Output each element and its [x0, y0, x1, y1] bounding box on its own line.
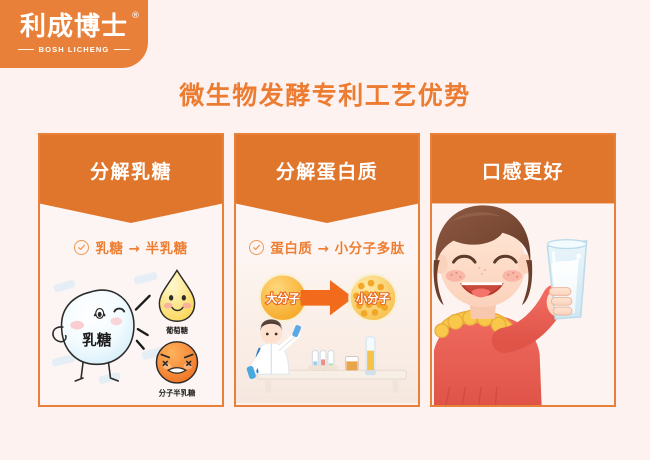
card-subtitle-protein: 蛋白质 → 小分子多肽	[236, 237, 418, 257]
feature-card-taste: 口感更好	[430, 133, 616, 407]
art-label-small-molecule: 小分子	[356, 292, 390, 306]
brand-name-cn-text: 利成博士	[20, 12, 128, 42]
card-subtitle-lactose: 乳糖 → 半乳糖	[40, 237, 222, 257]
registered-trademark-icon: ®	[131, 12, 141, 21]
feature-card-list: 分解乳糖 乳糖 → 半乳糖	[38, 133, 616, 407]
check-circle-icon	[249, 240, 264, 255]
rule-left-divider	[18, 49, 34, 50]
card-header-protein: 分解蛋白质	[236, 135, 418, 223]
illustration-lactose-characters: 乳糖 葡萄糖	[40, 263, 222, 405]
page-title: 微生物发酵专利工艺优势	[0, 76, 650, 112]
brand-name-en: BOSH LICHENG	[39, 45, 110, 54]
card-title-lactose: 分解乳糖	[90, 157, 172, 184]
brand-subtitle-row: BOSH LICHENG	[18, 45, 131, 54]
feature-card-lactose: 分解乳糖 乳糖 → 半乳糖	[38, 133, 224, 407]
card-title-taste: 口感更好	[482, 157, 564, 184]
card-subtitle-lactose-text: 乳糖 → 半乳糖	[95, 237, 187, 257]
card-header-lactose: 分解乳糖	[40, 135, 222, 223]
brand-name-cn: 利成博士 ®	[20, 14, 128, 40]
card-subtitle-protein-text: 蛋白质 → 小分子多肽	[270, 237, 404, 257]
illustration-girl-with-milk	[432, 195, 614, 405]
svg-text:乳糖: 乳糖	[82, 331, 112, 349]
rule-right-divider	[114, 49, 130, 50]
card-title-protein: 分解蛋白质	[276, 157, 379, 184]
feature-card-protein: 分解蛋白质 蛋白质 → 小分子多肽	[234, 133, 420, 407]
brand-logo-badge: 利成博士 ® BOSH LICHENG	[0, 0, 148, 68]
check-circle-icon	[74, 240, 89, 255]
art-label-glucose: 葡萄糖	[165, 326, 189, 335]
art-label-large-molecule: 大分子	[266, 292, 300, 306]
art-label-galactose: 分子半乳糖	[159, 389, 196, 398]
illustration-molecule-lab: 大分子 小分子	[236, 263, 418, 405]
test-tube-rack	[308, 351, 337, 371]
